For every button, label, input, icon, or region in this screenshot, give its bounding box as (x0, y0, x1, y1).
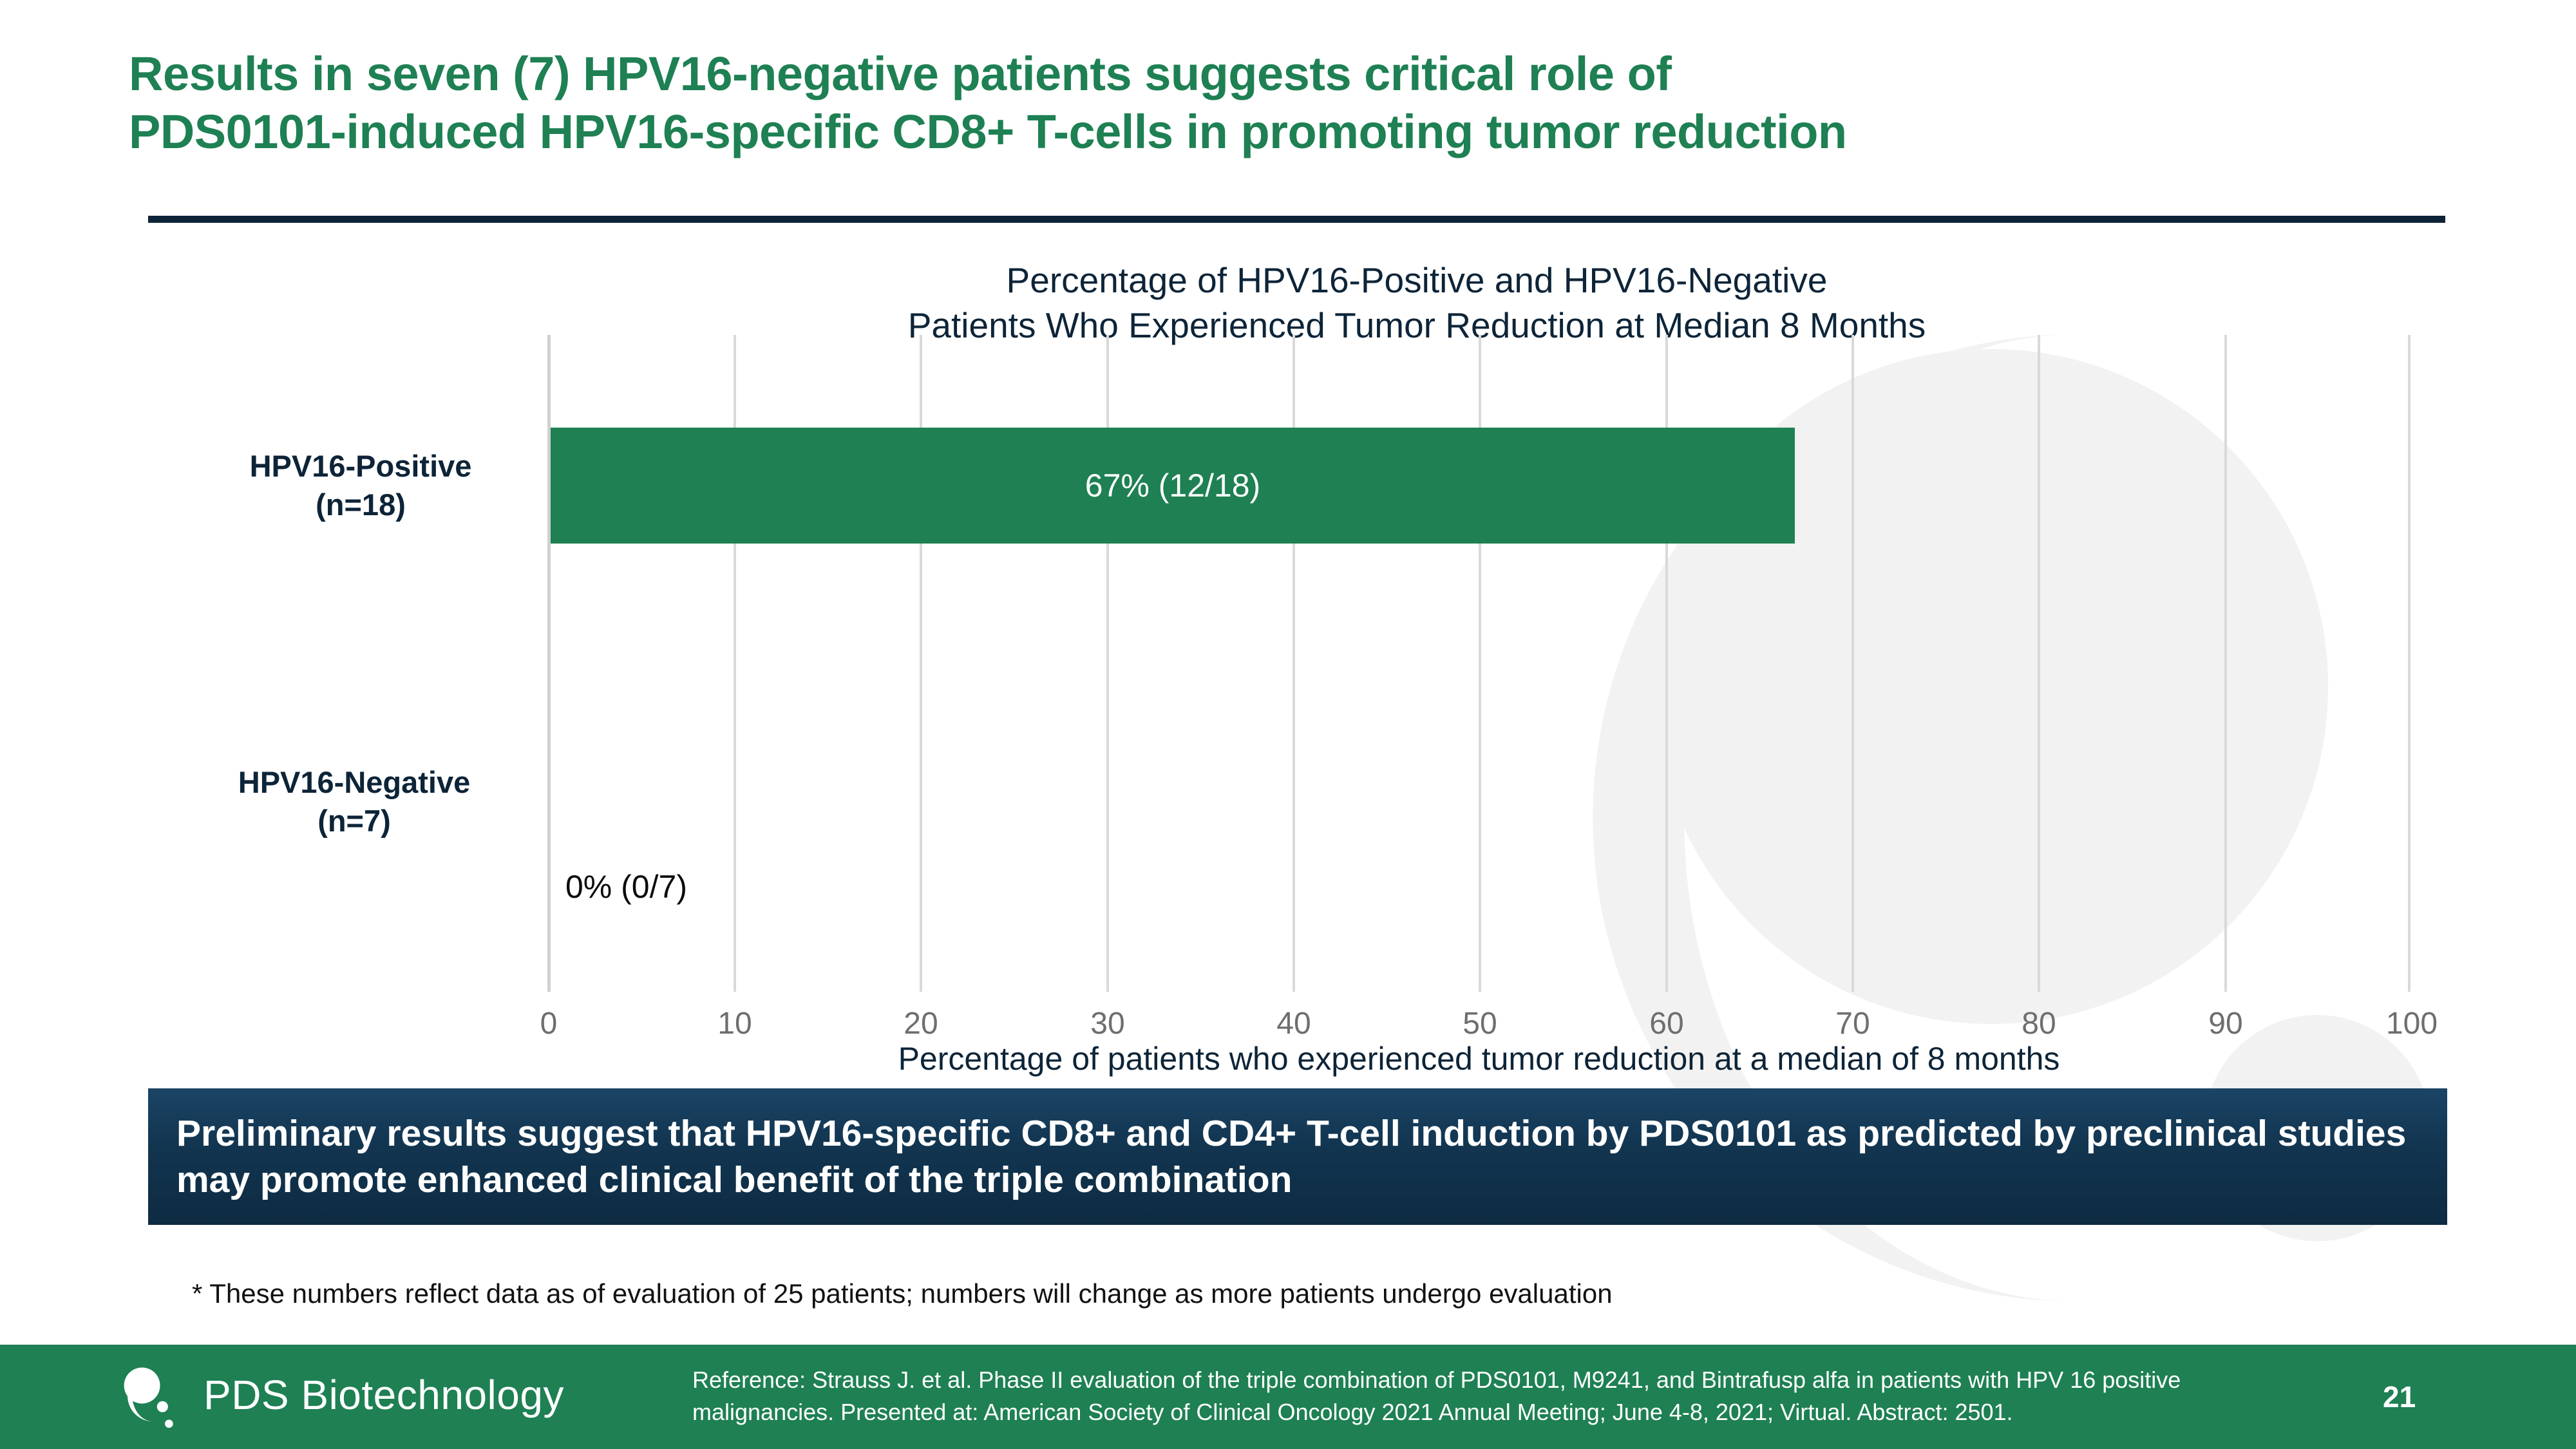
plot-area: 67% (12/18) 0% (0/7) 0 10 20 30 40 50 60… (547, 335, 2410, 992)
xtick-label-30: 30 (1043, 1006, 1172, 1041)
title-divider-rule (148, 216, 2445, 223)
gridline-90 (2224, 335, 2227, 992)
conclusion-banner: Preliminary results suggest that HPV16-s… (148, 1088, 2447, 1225)
conclusion-banner-text: Preliminary results suggest that HPV16-s… (148, 1110, 2447, 1204)
xtick-label-60: 60 (1602, 1006, 1731, 1041)
slide-root: Results in seven (7) HPV16-negative pati… (0, 0, 2576, 1449)
category-label-hpv16-positive-line-2: (n=18) (193, 486, 528, 524)
xtick-label-50: 50 (1416, 1006, 1544, 1041)
category-label-hpv16-positive: HPV16-Positive (n=18) (193, 447, 528, 524)
xtick-label-70: 70 (1788, 1006, 1917, 1041)
gridline-100 (2408, 335, 2410, 992)
slide-title: Results in seven (7) HPV16-negative pati… (129, 45, 2473, 162)
xtick-label-0: 0 (484, 1006, 613, 1041)
category-label-hpv16-negative: HPV16-Negative (n=7) (187, 763, 522, 840)
bar-chart: Percentage of HPV16-Positive and HPV16-N… (0, 251, 2576, 1075)
company-logo: PDS Biotechnology (115, 1359, 564, 1431)
gridline-70 (1851, 335, 1854, 992)
bar-value-label-hpv16-negative: 0% (0/7) (565, 868, 687, 905)
bar-value-label-hpv16-positive: 67% (12/18) (1085, 467, 1260, 504)
company-logo-name: PDS Biotechnology (204, 1371, 564, 1419)
xtick-label-40: 40 (1229, 1006, 1358, 1041)
xtick-label-20: 20 (857, 1006, 985, 1041)
chart-title-line-1: Percentage of HPV16-Positive and HPV16-N… (547, 258, 2286, 303)
gridline-80 (2038, 335, 2040, 992)
xtick-label-10: 10 (670, 1006, 799, 1041)
footnote-text: * These numbers reflect data as of evalu… (192, 1278, 1613, 1309)
bar-hpv16-positive: 67% (12/18) (551, 428, 1795, 544)
pds-droplet-logo-icon (115, 1359, 187, 1431)
xtick-label-80: 80 (1975, 1006, 2103, 1041)
footer-reference-text: Reference: Strauss J. et al. Phase II ev… (692, 1364, 2322, 1428)
slide-title-line-2: PDS0101-induced HPV16-specific CD8+ T-ce… (129, 103, 2473, 161)
category-label-hpv16-negative-line-2: (n=7) (187, 802, 522, 840)
category-label-hpv16-positive-line-1: HPV16-Positive (193, 447, 528, 486)
category-label-hpv16-negative-line-1: HPV16-Negative (187, 763, 522, 802)
xtick-label-90: 90 (2161, 1006, 2290, 1041)
slide-footer: PDS Biotechnology Reference: Strauss J. … (0, 1345, 2576, 1449)
xtick-label-100: 100 (2347, 1006, 2476, 1041)
slide-title-line-1: Results in seven (7) HPV16-negative pati… (129, 45, 2473, 103)
slide-page-number: 21 (2383, 1379, 2416, 1414)
x-axis-title: Percentage of patients who experienced t… (547, 1040, 2410, 1077)
